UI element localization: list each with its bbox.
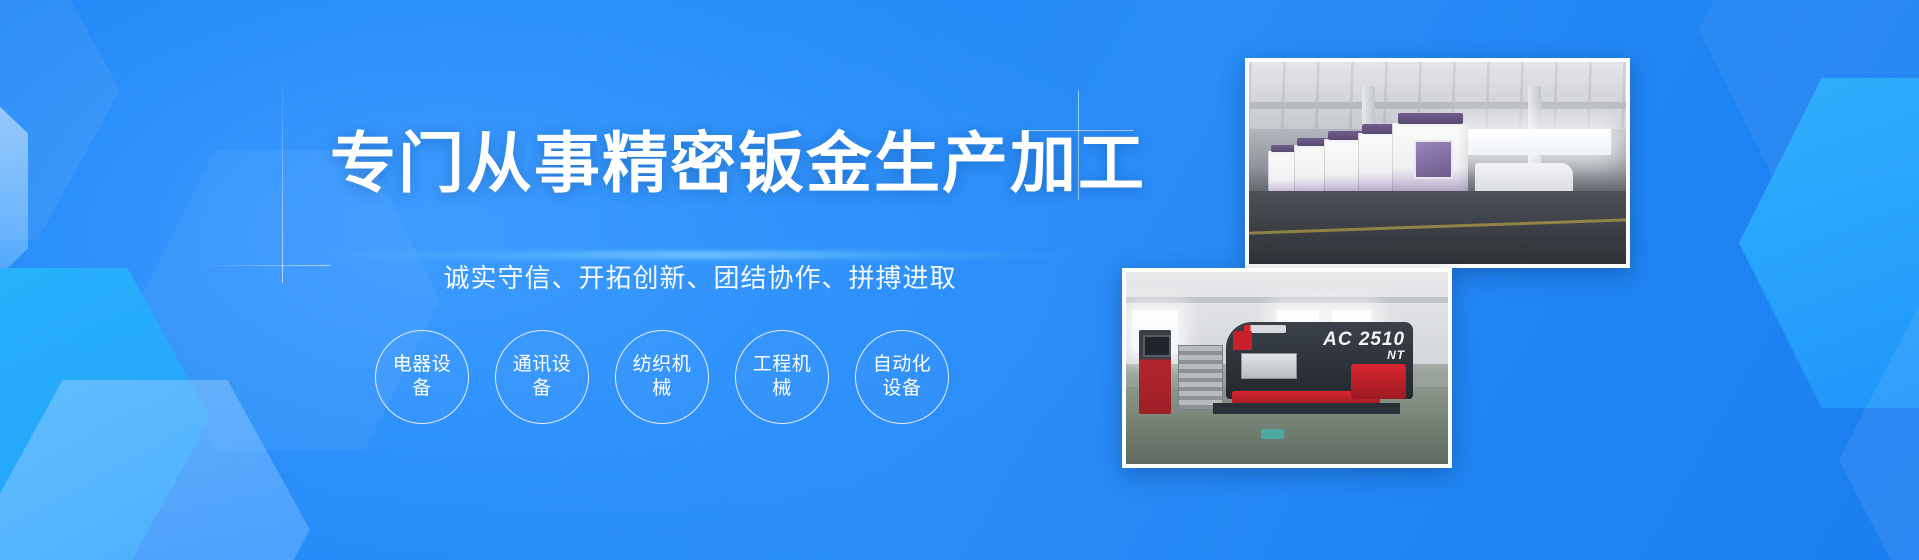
banner-subtitle: 诚实守信、开拓创新、团结协作、拼搏进取 bbox=[330, 262, 1070, 296]
category-badge-textile-machinery[interactable]: 纺织机 械 bbox=[615, 330, 709, 424]
badge-line-2: 设备 bbox=[873, 377, 932, 401]
badge-line-1: 电器设 bbox=[393, 353, 452, 377]
decorative-hexagon bbox=[1839, 300, 1919, 560]
badge-line-2: 备 bbox=[393, 377, 452, 401]
badge-line-2: 械 bbox=[633, 377, 692, 401]
headline-glow bbox=[300, 250, 1100, 260]
badge-line-1: 纺织机 bbox=[633, 353, 692, 377]
category-badge-communication-equipment[interactable]: 通讯设 备 bbox=[495, 330, 589, 424]
badge-line-1: 工程机 bbox=[753, 353, 812, 377]
machine-model-label: AC 2510 NT bbox=[1323, 330, 1405, 361]
badge-line-1: 自动化 bbox=[873, 353, 932, 377]
category-badge-automation-equipment[interactable]: 自动化 设备 bbox=[855, 330, 949, 424]
badge-line-2: 械 bbox=[753, 377, 812, 401]
category-badge-list: 电器设 备 通讯设 备 纺织机 械 工程机 械 bbox=[375, 330, 949, 424]
photo-image: AC 2510 NT bbox=[1126, 272, 1448, 464]
category-badge-electrical-equipment[interactable]: 电器设 备 bbox=[375, 330, 469, 424]
photo-cnc-machining-workshop bbox=[1245, 58, 1630, 268]
banner-headline: 专门从事精密钣金生产加工 bbox=[330, 130, 1070, 196]
photo-image bbox=[1249, 62, 1626, 264]
badge-line-1: 通讯设 bbox=[513, 353, 572, 377]
badge-line-2: 备 bbox=[513, 377, 572, 401]
hero-banner: 专门从事精密钣金生产加工 诚实守信、开拓创新、团结协作、拼搏进取 电器设 备 通… bbox=[0, 0, 1919, 560]
photo-amada-turret-punch-workshop: AC 2510 NT bbox=[1122, 268, 1452, 468]
banner-content: 专门从事精密钣金生产加工 诚实守信、开拓创新、团结协作、拼搏进取 电器设 备 通… bbox=[0, 0, 1100, 560]
category-badge-engineering-machinery[interactable]: 工程机 械 bbox=[735, 330, 829, 424]
